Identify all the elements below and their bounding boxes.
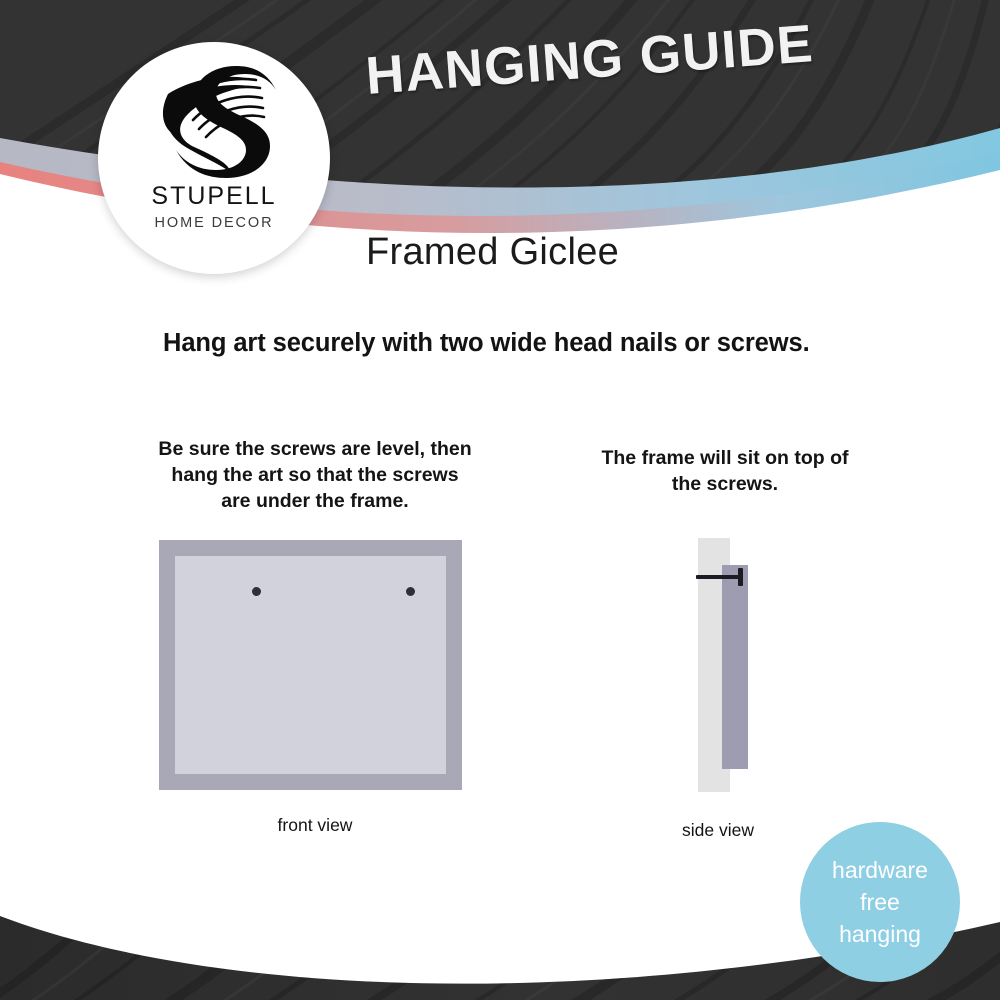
stupell-swirl-logo-icon [150, 60, 278, 180]
side-view-label: side view [608, 820, 828, 841]
badge-line-2: free [860, 886, 900, 918]
front-view-mat [175, 556, 446, 774]
product-title: Framed Giclee [366, 231, 619, 274]
screw-dot-left [252, 587, 261, 596]
hanging-guide-page: STUPELL HOME DECOR HANGING GUIDE Framed … [0, 0, 1000, 1000]
screw-dot-right [406, 587, 415, 596]
side-view-diagram [690, 530, 770, 792]
front-view-diagram [159, 540, 462, 790]
front-view-caption: Be sure the screws are level, then hang … [155, 436, 475, 514]
stupell-logo-badge: STUPELL HOME DECOR [98, 42, 330, 274]
side-view-frame [722, 565, 748, 769]
badge-line-1: hardware [832, 854, 928, 886]
lead-instruction: Hang art securely with two wide head nai… [163, 329, 810, 358]
nail-head-icon [738, 568, 743, 586]
badge-line-3: hanging [839, 918, 921, 950]
hardware-free-hanging-badge: hardware free hanging [800, 822, 960, 982]
side-view-caption: The frame will sit on top of the screws. [590, 445, 860, 497]
logo-wordmark: STUPELL [151, 184, 276, 209]
front-view-label: front view [155, 815, 475, 836]
nail-shank-icon [696, 575, 742, 579]
logo-subwordmark: HOME DECOR [155, 216, 274, 231]
